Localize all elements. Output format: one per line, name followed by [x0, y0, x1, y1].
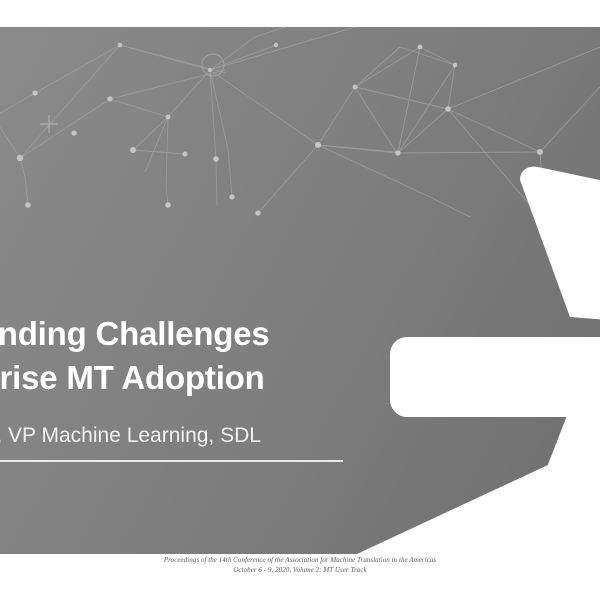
slide-subtitle: zyński, VP Machine Learning, SDL: [0, 421, 360, 451]
slide-background: [0, 27, 600, 554]
footer-line-1: Proceedings of the 14th Conference of th…: [0, 556, 600, 566]
title-block: rstanding Challenges terprise MT Adoptio…: [0, 312, 360, 462]
slide-title-line-1: rstanding Challenges: [0, 312, 360, 356]
slide-title-line-2: terprise MT Adoption: [0, 356, 360, 400]
title-divider-rule: [0, 460, 343, 462]
presentation-slide: rstanding Challenges terprise MT Adoptio…: [0, 27, 600, 554]
footer-line-2: October 6 - 9, 2020, Volume 2: MT User T…: [0, 566, 600, 576]
slide-page: rstanding Challenges terprise MT Adoptio…: [0, 0, 600, 590]
proceedings-footer: Proceedings of the 14th Conference of th…: [0, 556, 600, 575]
